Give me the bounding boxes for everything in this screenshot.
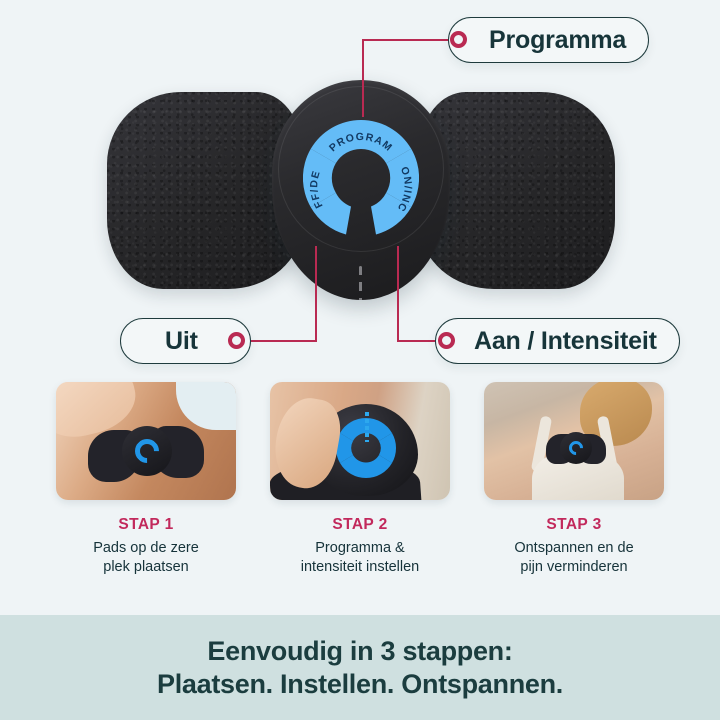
step-3-title: STAP 3 bbox=[474, 516, 674, 534]
step-3-desc-line2: pijn verminderen bbox=[474, 558, 674, 577]
banner-line-2: Plaatsen. Instellen. Ontspannen. bbox=[157, 668, 563, 701]
steps-section: STAP 1 Pads op de zere plek plaatsen bbox=[0, 382, 720, 597]
step-2-title: STAP 2 bbox=[260, 516, 460, 534]
step-1-desc-line2: plek plaatsen bbox=[46, 558, 246, 577]
step-3-desc-line1: Ontspannen en de bbox=[474, 539, 674, 558]
step-2-photo bbox=[270, 382, 450, 500]
mini-power-ring-icon bbox=[130, 434, 164, 468]
callout-programma-label: Programma bbox=[489, 26, 626, 55]
banner-line-1: Eenvoudig in 3 stappen: bbox=[207, 635, 512, 668]
led-indicator-strip bbox=[359, 266, 362, 300]
step-2-desc-line2: intensiteit instellen bbox=[260, 558, 460, 577]
step-1-desc-line1: Pads op de zere bbox=[46, 539, 246, 558]
callout-aan-dot[interactable] bbox=[438, 332, 455, 349]
leader-uit-vertical bbox=[315, 246, 317, 341]
device-control-unit[interactable]: PROGRAM OFF/DEC ON/INC bbox=[272, 80, 450, 300]
step-card-1: STAP 1 Pads op de zere plek plaatsen bbox=[46, 382, 246, 577]
callout-programma[interactable]: Programma bbox=[448, 17, 649, 63]
step-card-3: STAP 3 Ontspannen en de pijn verminderen bbox=[474, 382, 674, 577]
led-level-indicator bbox=[365, 412, 369, 442]
step-2-desc-line1: Programma & bbox=[260, 539, 460, 558]
back-power-ring-icon bbox=[566, 438, 586, 458]
control-ring[interactable]: PROGRAM OFF/DEC ON/INC bbox=[303, 120, 419, 236]
leader-programma-horizontal bbox=[363, 39, 459, 41]
hero-device-section: PROGRAM OFF/DEC ON/INC Programma bbox=[0, 0, 720, 375]
step-1-photo bbox=[56, 382, 236, 500]
step-3-photo bbox=[484, 382, 664, 500]
step-1-title: STAP 1 bbox=[46, 516, 246, 534]
callout-programma-dot[interactable] bbox=[450, 31, 467, 48]
infographic-page: PROGRAM OFF/DEC ON/INC Programma bbox=[0, 0, 720, 720]
callout-uit-dot[interactable] bbox=[228, 332, 245, 349]
leader-programma-vertical bbox=[362, 39, 364, 117]
ring-segments[interactable]: PROGRAM OFF/DEC ON/INC bbox=[303, 120, 419, 236]
callout-uit-label: Uit bbox=[165, 327, 198, 356]
callout-aan-intensiteit[interactable]: Aan / Intensiteit bbox=[435, 318, 680, 364]
mini-control-hub bbox=[122, 426, 172, 476]
back-control-hub bbox=[560, 432, 592, 464]
step-card-2: STAP 2 Programma & intensiteit instellen bbox=[260, 382, 460, 577]
callout-aan-label: Aan / Intensiteit bbox=[474, 327, 657, 356]
leader-aan-vertical bbox=[397, 246, 399, 341]
bottom-banner: Eenvoudig in 3 stappen: Plaatsen. Instel… bbox=[0, 615, 720, 720]
